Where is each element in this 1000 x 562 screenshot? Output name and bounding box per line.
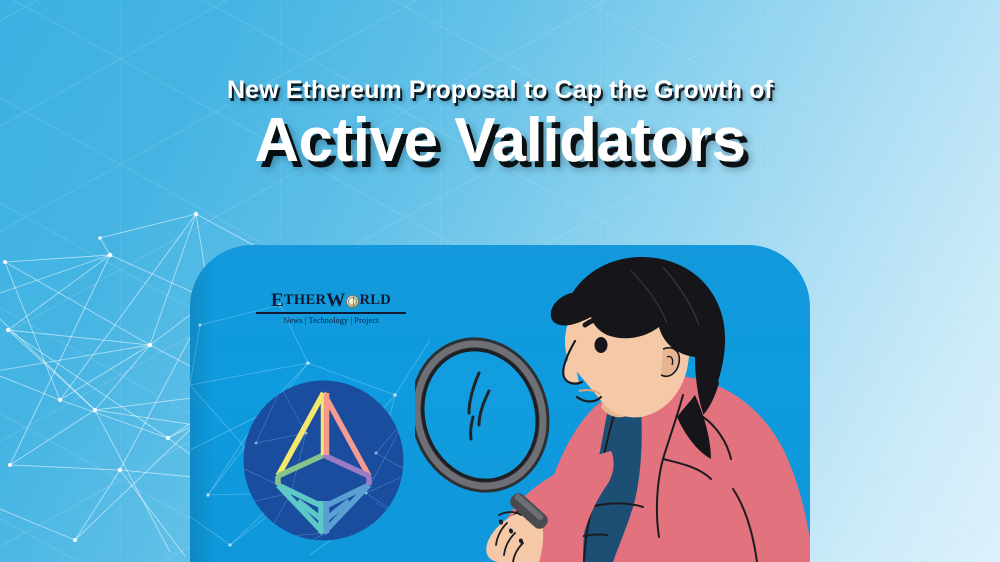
logo-divider	[256, 312, 406, 314]
logo-letters-ther: THER	[284, 293, 326, 308]
logo-letters-rld: RLD	[360, 293, 392, 308]
banner-canvas: New Ethereum Proposal to Cap the Growth …	[0, 0, 1000, 562]
logo-letter-w: W	[326, 291, 345, 310]
ethereum-diamond-logo	[236, 373, 411, 548]
globe-icon	[346, 295, 359, 308]
content-card: ETHERWRLD News | Technology | Project	[190, 245, 810, 562]
logo-tagline: News | Technology | Project	[256, 317, 406, 325]
etherworld-wordmark: ETHERWRLD	[256, 291, 406, 310]
person-with-magnifying-glass	[415, 245, 810, 562]
etherworld-logo: ETHERWRLD News | Technology | Project	[256, 291, 406, 325]
logo-letter-e: E	[271, 291, 284, 310]
